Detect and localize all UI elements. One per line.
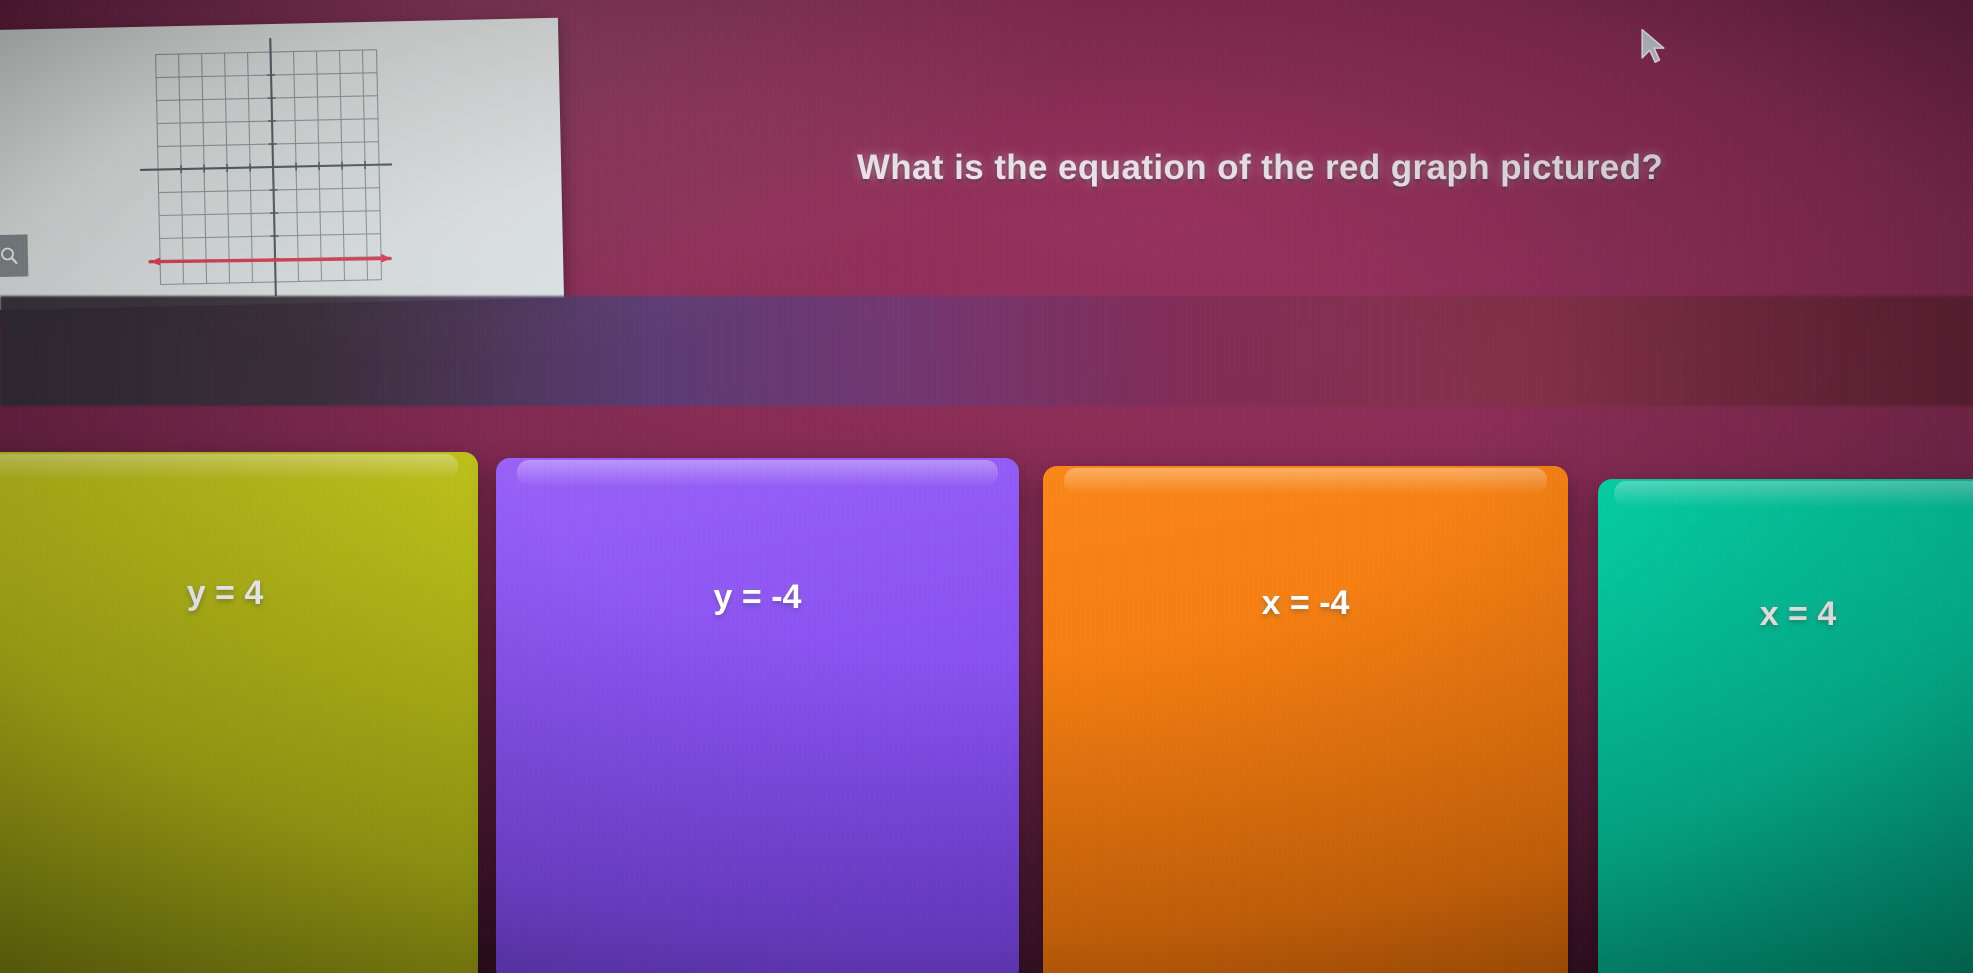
button-gloss (517, 460, 998, 486)
quiz-screen: What is the equation of the red graph pi… (0, 0, 1973, 973)
answer-button-2[interactable]: y = -4 (496, 458, 1019, 973)
graph-image-card (0, 18, 564, 310)
zoom-image-button[interactable] (0, 234, 28, 277)
answer-label-4: x = 4 (1598, 595, 1973, 634)
question-text: What is the equation of the red graph pi… (760, 148, 1760, 188)
graph-image (0, 18, 564, 310)
answer-button-3[interactable]: x = -4 (1043, 466, 1568, 973)
mouse-pointer-icon (1640, 28, 1666, 66)
red-graph-line (150, 252, 391, 267)
button-gloss (1064, 468, 1547, 494)
answer-button-4[interactable]: x = 4 (1598, 479, 1973, 973)
coordinate-plot (133, 31, 399, 302)
answer-button-1[interactable]: y = 4 (0, 452, 478, 973)
answer-label-1: y = 4 (0, 574, 478, 613)
section-divider (0, 296, 1973, 406)
search-icon (0, 245, 20, 267)
answer-label-2: y = -4 (496, 578, 1019, 617)
button-gloss (0, 454, 458, 480)
button-gloss (1614, 481, 1973, 507)
answer-label-3: x = -4 (1043, 584, 1568, 623)
